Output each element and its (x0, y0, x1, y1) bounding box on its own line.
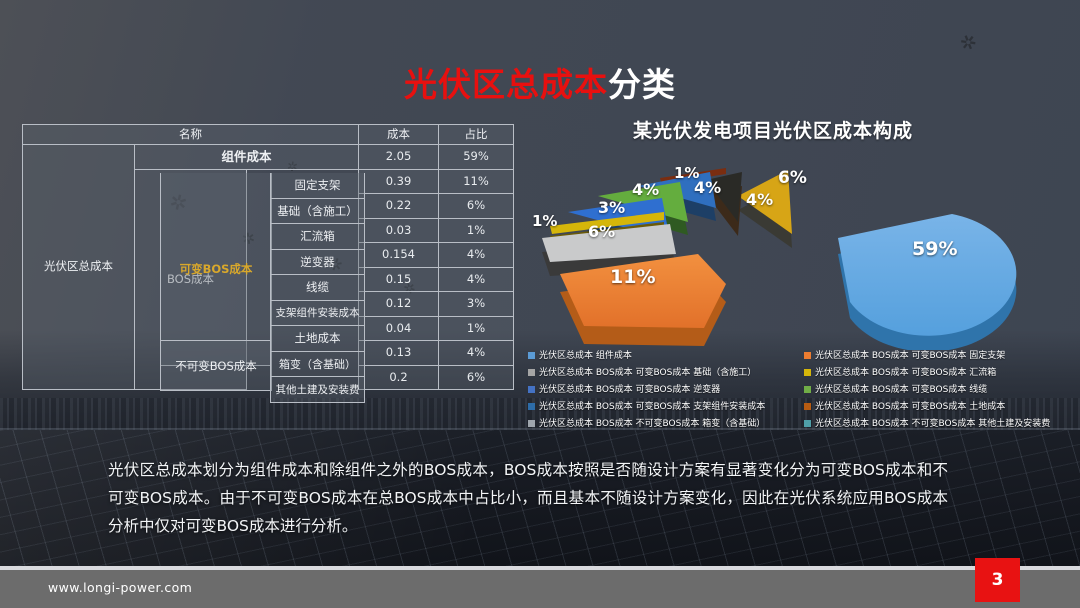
page-title-highlight: 光伏区总成本 (404, 65, 608, 104)
cell-row-cost: 0.15 (359, 267, 439, 292)
cell-row-cost: 0.2 (359, 365, 439, 390)
cell-row-name: 汇流箱 (270, 224, 365, 250)
legend-label: 光伏区总成本 BOS成本 可变BOS成本 基础（含施工） (539, 368, 756, 378)
footer-url[interactable]: www.longi-power.com (48, 580, 192, 595)
legend-item[interactable]: 光伏区总成本 BOS成本 可变BOS成本 固定支架 (804, 347, 1076, 364)
legend-label: 光伏区总成本 BOS成本 可变BOS成本 土地成本 (815, 402, 1005, 412)
pie-label-value: 3% (598, 198, 625, 217)
body-paragraph: 光伏区总成本划分为组件成本和除组件之外的BOS成本，BOS成本按照是否随设计方案… (108, 456, 948, 540)
legend-label: 光伏区总成本 BOS成本 不可变BOS成本 其他土建及安装费 (815, 419, 1050, 429)
legend-item[interactable]: 光伏区总成本 BOS成本 不可变BOS成本 箱变（含基础） (528, 415, 800, 432)
legend-item[interactable]: 光伏区总成本 BOS成本 可变BOS成本 土地成本 (804, 398, 1076, 415)
pie-chart: 1% 4% 4% 4% 6% 3% 1% 6% 11% 59% (520, 150, 1080, 350)
cell-row-name: 箱变（含基础） (270, 352, 365, 378)
legend-item[interactable]: 光伏区总成本 BOS成本 可变BOS成本 基础（含施工） (528, 364, 800, 381)
cell-variable-bos-cost: 可变BOS成本 (160, 173, 272, 366)
table-header-row: 名称 成本 占比 (23, 125, 514, 145)
cell-fixed-bos-label: 不可变BOS成本 (175, 358, 257, 374)
pie-label-value: 4% (694, 178, 721, 197)
pie-label-value: 1% (532, 212, 557, 230)
legend-label: 光伏区总成本 BOS成本 可变BOS成本 汇流箱 (815, 368, 996, 378)
legend-swatch-icon (804, 369, 811, 376)
legend-column-right: 光伏区总成本 BOS成本 可变BOS成本 固定支架 光伏区总成本 BOS成本 可… (804, 347, 1076, 432)
cell-row-name: 支架组件安装成本 (270, 301, 365, 327)
pie-label-value: 59% (912, 238, 957, 260)
cell-row-cost: 0.154 (359, 243, 439, 268)
subname-column: 固定支架 基础（含施工） 汇流箱 逆变器 线缆 支架组件安装成本 土地成本 箱变… (270, 173, 365, 389)
cell-row-name: 土地成本 (270, 326, 365, 352)
header-name: 名称 (23, 125, 359, 145)
legend-swatch-icon (528, 369, 535, 376)
cell-row-name: 其他土建及安装费 (270, 377, 365, 403)
cell-row-share: 4% (439, 243, 514, 268)
table-row: 光伏区总成本 组件成本 2.05 59% (23, 145, 514, 170)
legend-label: 光伏区总成本 BOS成本 可变BOS成本 固定支架 (815, 351, 1005, 361)
cell-row-share: 6% (439, 194, 514, 219)
slide-canvas: ✲ ✲ ✲ ✲ ✲ ✲ 光伏区总成本分类 名称 成本 占比 光伏区总成本 组件成… (0, 0, 1080, 608)
legend-label: 光伏区总成本 BOS成本 可变BOS成本 逆变器 (539, 385, 720, 395)
header-cost: 成本 (359, 125, 439, 145)
page-number-badge: 3 (975, 558, 1020, 602)
cell-row-cost: 0.22 (359, 194, 439, 219)
legend-label: 光伏区总成本 BOS成本 不可变BOS成本 箱变（含基础） (539, 419, 765, 429)
pie-label-value: 4% (632, 180, 659, 199)
legend-label: 光伏区总成本 BOS成本 可变BOS成本 支架组件安装成本 (539, 402, 765, 412)
legend-item[interactable]: 光伏区总成本 BOS成本 可变BOS成本 支架组件安装成本 (528, 398, 800, 415)
cell-row-name: 线缆 (270, 275, 365, 301)
cell-group-total-cost: 光伏区总成本 (23, 145, 135, 390)
legend-item[interactable]: 光伏区总成本 BOS成本 可变BOS成本 汇流箱 (804, 364, 1076, 381)
cell-row-cost: 0.04 (359, 316, 439, 341)
cell-row-share: 3% (439, 292, 514, 317)
header-share: 占比 (439, 125, 514, 145)
cell-variable-bos-label: 可变BOS成本 (180, 261, 253, 277)
legend-swatch-icon (804, 403, 811, 410)
page-title: 光伏区总成本分类 (0, 58, 1080, 106)
cell-row-share: 4% (439, 267, 514, 292)
legend-swatch-icon (804, 352, 811, 359)
cell-row-cost: 0.03 (359, 218, 439, 243)
legend-label: 光伏区总成本 BOS成本 可变BOS成本 线缆 (815, 385, 987, 395)
cell-row-share: 6% (439, 365, 514, 390)
cell-row-share: 59% (439, 145, 514, 170)
cell-row-cost: 0.13 (359, 341, 439, 366)
chart-title: 某光伏发电项目光伏区成本构成 (598, 116, 948, 143)
cell-row-cost: 2.05 (359, 145, 439, 170)
cell-row-cost: 0.39 (359, 169, 439, 194)
cell-row-share: 4% (439, 341, 514, 366)
legend-swatch-icon (528, 420, 535, 427)
cell-row-name: 组件成本 (135, 145, 359, 170)
pie-label-value: 4% (746, 190, 773, 209)
cell-row-share: 1% (439, 218, 514, 243)
cell-row-share: 1% (439, 316, 514, 341)
body-text: 光伏区总成本划分为组件成本和除组件之外的BOS成本，BOS成本按照是否随设计方案… (108, 456, 948, 540)
cell-row-cost: 0.12 (359, 292, 439, 317)
legend-swatch-icon (804, 420, 811, 427)
cell-row-name: 基础（含施工） (270, 199, 365, 225)
legend-label: 光伏区总成本 组件成本 (539, 351, 632, 361)
cell-row-name: 固定支架 (270, 173, 365, 199)
page-title-suffix: 分类 (608, 65, 676, 104)
legend-item[interactable]: 光伏区总成本 BOS成本 可变BOS成本 线缆 (804, 381, 1076, 398)
legend-swatch-icon (528, 403, 535, 410)
cell-row-name: 逆变器 (270, 250, 365, 276)
legend-column-left: 光伏区总成本 组件成本 光伏区总成本 BOS成本 可变BOS成本 基础（含施工）… (528, 347, 800, 432)
cell-fixed-bos-cost: 不可变BOS成本 (160, 340, 272, 391)
legend-swatch-icon (528, 386, 535, 393)
pie-slice-component-cost (838, 214, 1016, 350)
legend-swatch-icon (528, 352, 535, 359)
legend-item[interactable]: 光伏区总成本 组件成本 (528, 347, 800, 364)
legend-item[interactable]: 光伏区总成本 BOS成本 可变BOS成本 逆变器 (528, 381, 800, 398)
legend-item[interactable]: 光伏区总成本 BOS成本 不可变BOS成本 其他土建及安装费 (804, 415, 1076, 432)
cell-row-share: 11% (439, 169, 514, 194)
pie-label-value: 11% (610, 266, 655, 288)
legend-swatch-icon (804, 386, 811, 393)
pie-label-value: 6% (778, 168, 807, 188)
pie-label-value: 6% (588, 222, 615, 241)
